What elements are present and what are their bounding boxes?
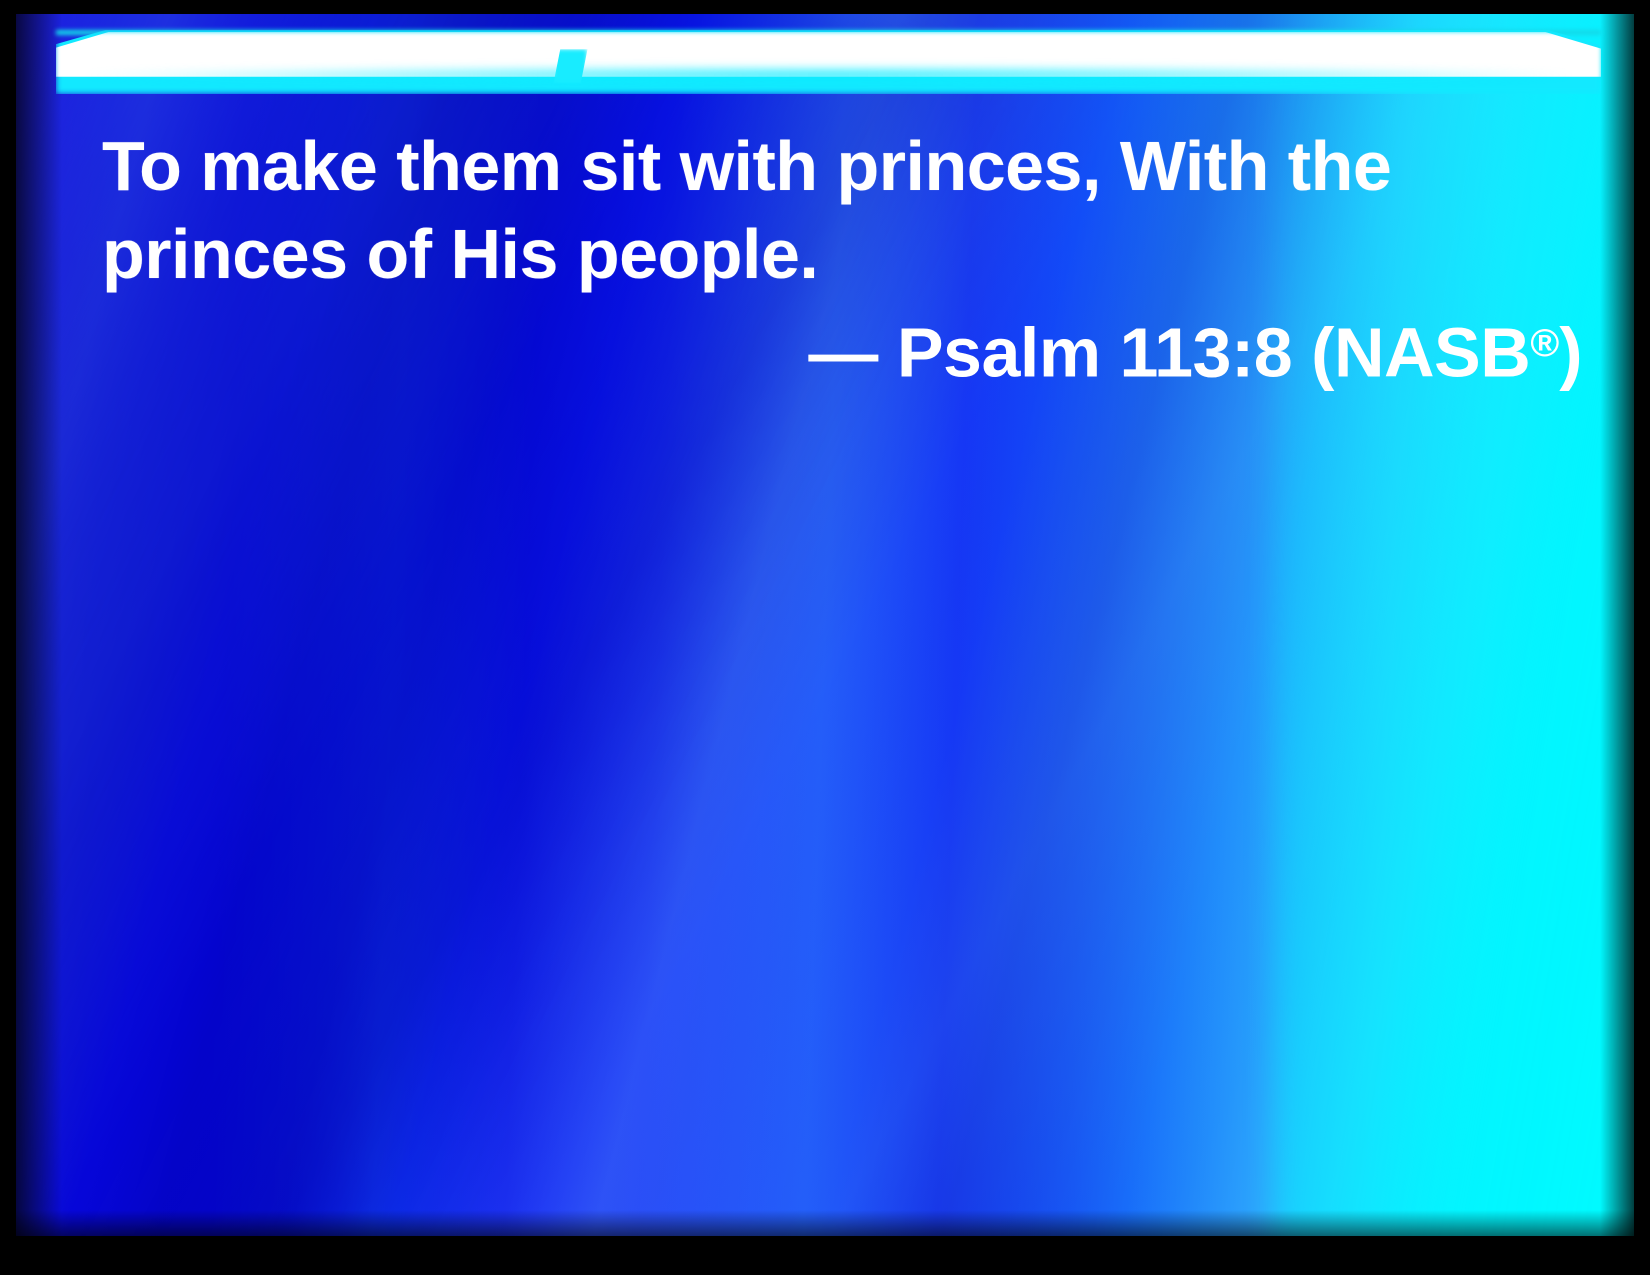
slide-artwork-area: To make them sit with princes, With the …: [16, 14, 1634, 1236]
verse-attribution: — Psalm 113:8 (NASB®): [102, 300, 1582, 396]
attribution-reference: Psalm 113:8 (NASB: [878, 313, 1530, 391]
registered-trademark-icon: ®: [1530, 322, 1559, 365]
scripture-slide: To make them sit with princes, With the …: [0, 0, 1650, 1275]
verse-line-2: princes of His people.: [102, 210, 1582, 298]
attribution-closing-paren: ): [1559, 313, 1582, 391]
verse-line-1: To make them sit with princes, With the: [102, 122, 1582, 210]
attribution-em-dash: —: [808, 313, 878, 391]
banner-inner-glow: [87, 65, 1570, 85]
top-highlight-banner: [56, 30, 1601, 94]
verse-text-block: To make them sit with princes, With the …: [102, 122, 1582, 298]
